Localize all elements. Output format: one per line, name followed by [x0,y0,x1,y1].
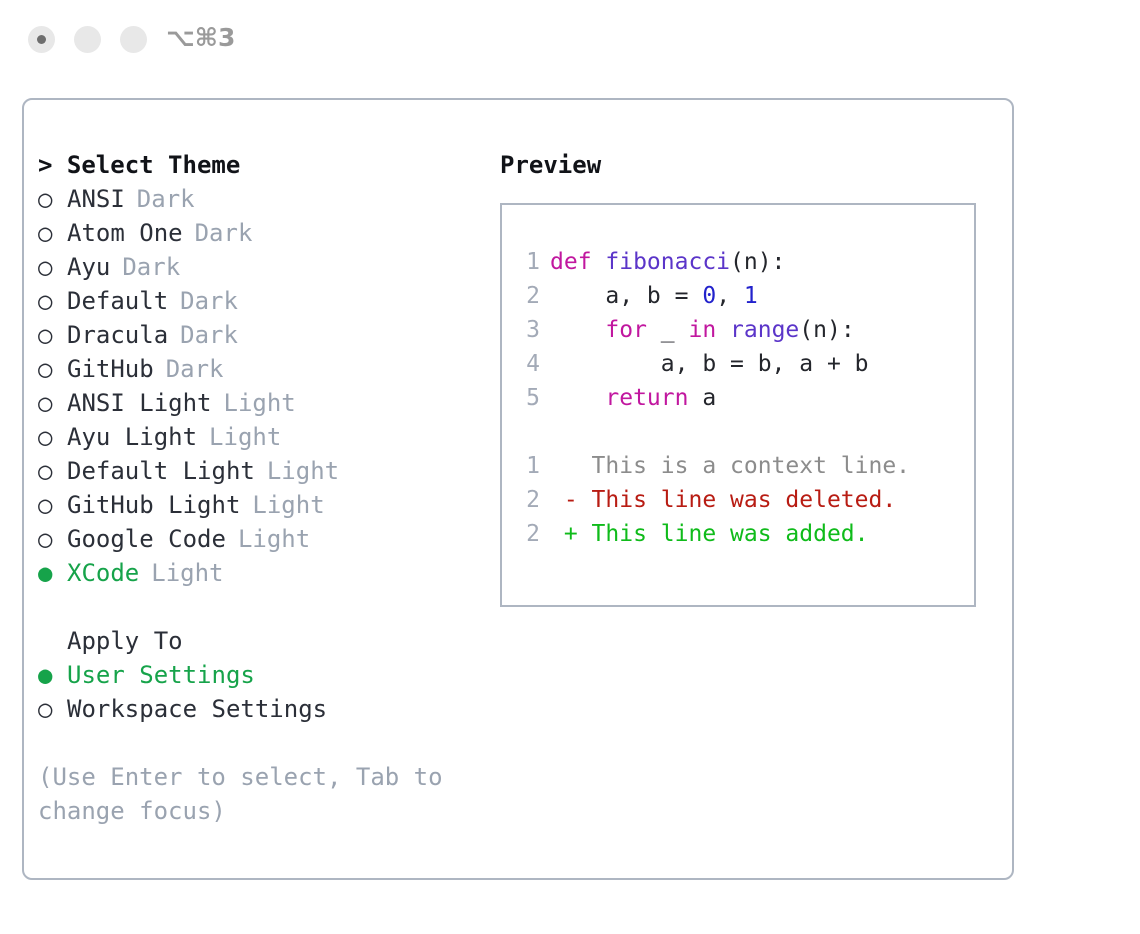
preview-title: Preview [500,148,1000,182]
theme-kind-badge: Light [139,556,223,590]
theme-item-github[interactable]: ○GitHubDark [38,352,498,386]
theme-name: GitHub [67,352,154,386]
theme-item-default-light[interactable]: ○Default LightLight [38,454,498,488]
theme-kind-badge: Light [255,454,339,488]
token-fn: range [730,317,799,343]
traffic-lights [28,26,147,53]
code-line-text: a, b = 0, 1 [550,279,758,313]
apply-to-option-label: User Settings [67,658,255,692]
code-sample: 1def fibonacci(n):2 a, b = 0, 13 for _ i… [512,245,966,415]
theme-name: Default Light [67,454,255,488]
diff-line: 1 This is a context line. [512,449,966,483]
apply-to-section: Apply To ●User Settings○Workspace Settin… [38,624,498,726]
close-dot-icon [37,35,46,44]
radio-unselected-icon: ○ [38,352,67,386]
radio-unselected-icon: ○ [38,182,67,216]
zoom-button[interactable] [120,26,147,53]
apply-to-option-workspace-settings[interactable]: ○Workspace Settings [38,692,498,726]
code-line-text: a, b = b, a + b [550,347,869,381]
token-plain: (n): [799,317,854,343]
theme-name: Default [67,284,168,318]
token-plain: , [716,283,744,309]
token-plain [716,317,730,343]
token-plain: _ [647,317,689,343]
theme-kind-badge: Dark [168,284,238,318]
token-kw: return [605,385,688,411]
token-ctx: This is a context line. [550,453,910,479]
theme-item-atom-one[interactable]: ○Atom OneDark [38,216,498,250]
code-line-text: def fibonacci(n): [550,245,785,279]
theme-item-google-code[interactable]: ○Google CodeLight [38,522,498,556]
line-number: 2 [512,517,550,551]
app-window: ⌥⌘3 > Select Theme ○ANSIDark○Atom OneDar… [0,0,1140,934]
code-line: 1def fibonacci(n): [512,245,966,279]
radio-selected-icon: ● [38,658,67,692]
keyboard-shortcut-label: ⌥⌘3 [166,23,235,52]
token-kw: def [550,249,605,275]
token-kw: for [605,317,647,343]
theme-kind-badge: Light [212,386,296,420]
radio-unselected-icon: ○ [38,216,67,250]
theme-item-ayu[interactable]: ○AyuDark [38,250,498,284]
radio-unselected-icon: ○ [38,250,67,284]
theme-name: ANSI Light [67,386,212,420]
token-add: + This line was added. [550,521,869,547]
apply-to-label: Apply To [38,624,498,658]
apply-to-option-label: Workspace Settings [67,692,327,726]
token-plain [550,385,605,411]
theme-name: Ayu [67,250,110,284]
theme-kind-badge: Light [226,522,310,556]
title-bar: ⌥⌘3 [0,0,1140,78]
theme-name: Dracula [67,318,168,352]
line-number: 1 [512,449,550,483]
token-kw: in [688,317,716,343]
theme-name: GitHub Light [67,488,240,522]
theme-item-default[interactable]: ○DefaultDark [38,284,498,318]
theme-list: ○ANSIDark○Atom OneDark○AyuDark○DefaultDa… [38,182,498,590]
code-diff-spacer [512,415,966,449]
radio-unselected-icon: ○ [38,454,67,488]
line-number: 5 [512,381,550,415]
radio-unselected-icon: ○ [38,522,67,556]
close-button[interactable] [28,26,55,53]
apply-to-options: ●User Settings○Workspace Settings [38,658,498,726]
token-plain [550,317,605,343]
apply-to-option-user-settings[interactable]: ●User Settings [38,658,498,692]
line-number: 1 [512,245,550,279]
radio-unselected-icon: ○ [38,318,67,352]
theme-name: Atom One [67,216,183,250]
theme-kind-badge: Dark [154,352,224,386]
radio-unselected-icon: ○ [38,386,67,420]
token-plain: a [688,385,716,411]
theme-name: Ayu Light [67,420,197,454]
token-del: - This line was deleted. [550,487,896,513]
token-plain: (n): [730,249,785,275]
code-line: 4 a, b = b, a + b [512,347,966,381]
code-line-text: - This line was deleted. [550,483,896,517]
radio-unselected-icon: ○ [38,420,67,454]
code-line-text: This is a context line. [550,449,910,483]
hint-text: (Use Enter to select, Tab to change focu… [38,760,453,828]
theme-kind-badge: Light [197,420,281,454]
theme-item-github-light[interactable]: ○GitHub LightLight [38,488,498,522]
line-number: 2 [512,279,550,313]
theme-name: ANSI [67,182,125,216]
theme-kind-badge: Dark [183,216,253,250]
theme-selection-column: > Select Theme ○ANSIDark○Atom OneDark○Ay… [38,148,498,828]
code-preview: 1def fibonacci(n):2 a, b = 0, 13 for _ i… [512,245,966,551]
theme-item-ansi[interactable]: ○ANSIDark [38,182,498,216]
code-line: 2 a, b = 0, 1 [512,279,966,313]
theme-item-ayu-light[interactable]: ○Ayu LightLight [38,420,498,454]
theme-item-dracula[interactable]: ○DraculaDark [38,318,498,352]
code-line-text: return a [550,381,716,415]
theme-kind-badge: Dark [125,182,195,216]
theme-item-ansi-light[interactable]: ○ANSI LightLight [38,386,498,420]
line-number: 3 [512,313,550,347]
theme-kind-badge: Light [240,488,324,522]
code-line: 5 return a [512,381,966,415]
theme-picker-panel: > Select Theme ○ANSIDark○Atom OneDark○Ay… [22,98,1014,880]
theme-item-xcode[interactable]: ●XCodeLight [38,556,498,590]
token-fn: fibonacci [605,249,730,275]
token-num: 1 [744,283,758,309]
line-number: 2 [512,483,550,517]
radio-unselected-icon: ○ [38,488,67,522]
preview-box: 1def fibonacci(n):2 a, b = 0, 13 for _ i… [500,203,976,607]
preview-column: Preview 1def fibonacci(n):2 a, b = 0, 13… [500,148,1000,607]
minimize-button[interactable] [74,26,101,53]
line-number: 4 [512,347,550,381]
diff-line: 2 - This line was deleted. [512,483,966,517]
token-plain: a, b = [550,283,702,309]
code-line-text: + This line was added. [550,517,869,551]
code-line: 3 for _ in range(n): [512,313,966,347]
theme-kind-badge: Dark [110,250,180,284]
theme-name: Google Code [67,522,226,556]
select-theme-header: > Select Theme [38,148,498,182]
theme-name: XCode [67,556,139,590]
code-line-text: for _ in range(n): [550,313,855,347]
token-num: 0 [702,283,716,309]
radio-unselected-icon: ○ [38,284,67,318]
diff-line: 2 + This line was added. [512,517,966,551]
radio-selected-icon: ● [38,556,67,590]
radio-unselected-icon: ○ [38,692,67,726]
theme-kind-badge: Dark [168,318,238,352]
diff-sample: 1 This is a context line.2 - This line w… [512,449,966,551]
token-plain: a, b = b, a + b [550,351,869,377]
